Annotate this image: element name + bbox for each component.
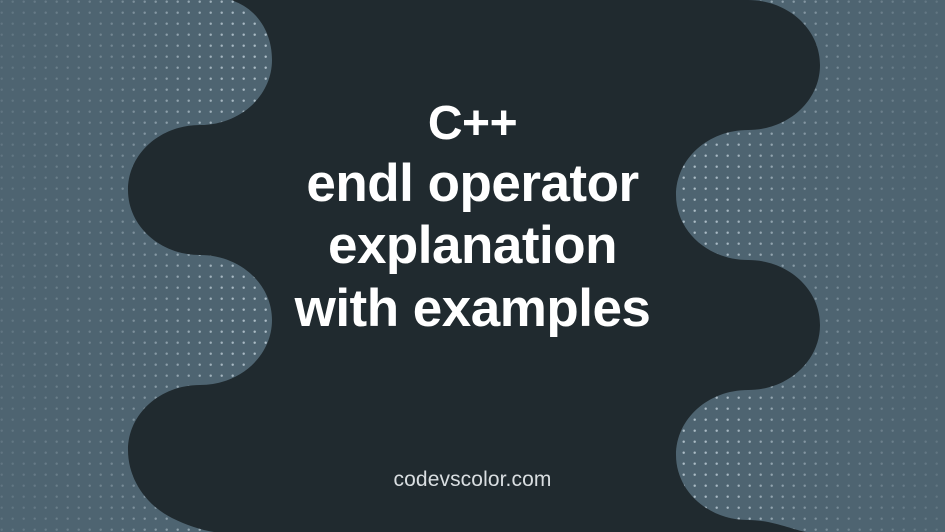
page-title: C++ endl operator explanation with examp…: [163, 96, 783, 340]
title-line-4: with examples: [163, 278, 783, 341]
title-line-1: C++: [163, 96, 783, 153]
cover-card: C++ endl operator explanation with examp…: [0, 0, 945, 532]
title-line-3: explanation: [163, 215, 783, 278]
title-line-2: endl operator: [163, 153, 783, 216]
site-watermark: codevscolor.com: [0, 468, 945, 492]
card-content: C++ endl operator explanation with examp…: [0, 0, 945, 532]
